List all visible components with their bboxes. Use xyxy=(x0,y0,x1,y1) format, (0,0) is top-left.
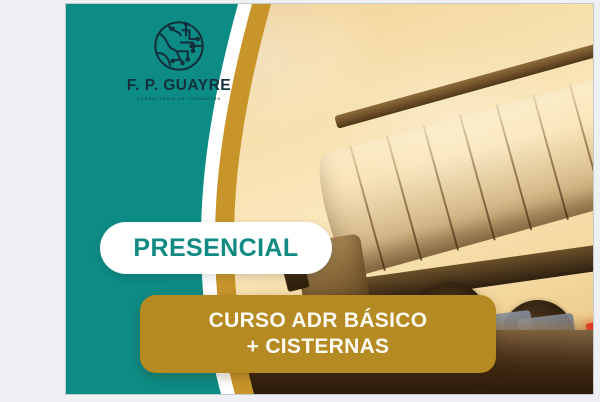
brand-name: F. P. GUAYRE xyxy=(114,78,244,94)
brand-logo: F. P. GUAYRE CONSULTORÍA DE FORMACIÓN xyxy=(114,18,244,101)
course-title-line-1: CURSO ADR BÁSICO xyxy=(209,308,428,334)
course-title-button[interactable]: CURSO ADR BÁSICO + CISTERNAS xyxy=(140,295,496,373)
brand-tagline: CONSULTORÍA DE FORMACIÓN xyxy=(111,96,248,100)
course-title-line-2: + CISTERNAS xyxy=(247,334,390,360)
modality-badge[interactable]: PRESENCIAL xyxy=(100,222,332,274)
globe-circuit-icon xyxy=(151,18,207,74)
course-poster-card: F. P. GUAYRE CONSULTORÍA DE FORMACIÓN PR… xyxy=(66,4,593,394)
poster-stage: F. P. GUAYRE CONSULTORÍA DE FORMACIÓN PR… xyxy=(0,0,600,402)
modality-badge-label: PRESENCIAL xyxy=(133,234,298,263)
